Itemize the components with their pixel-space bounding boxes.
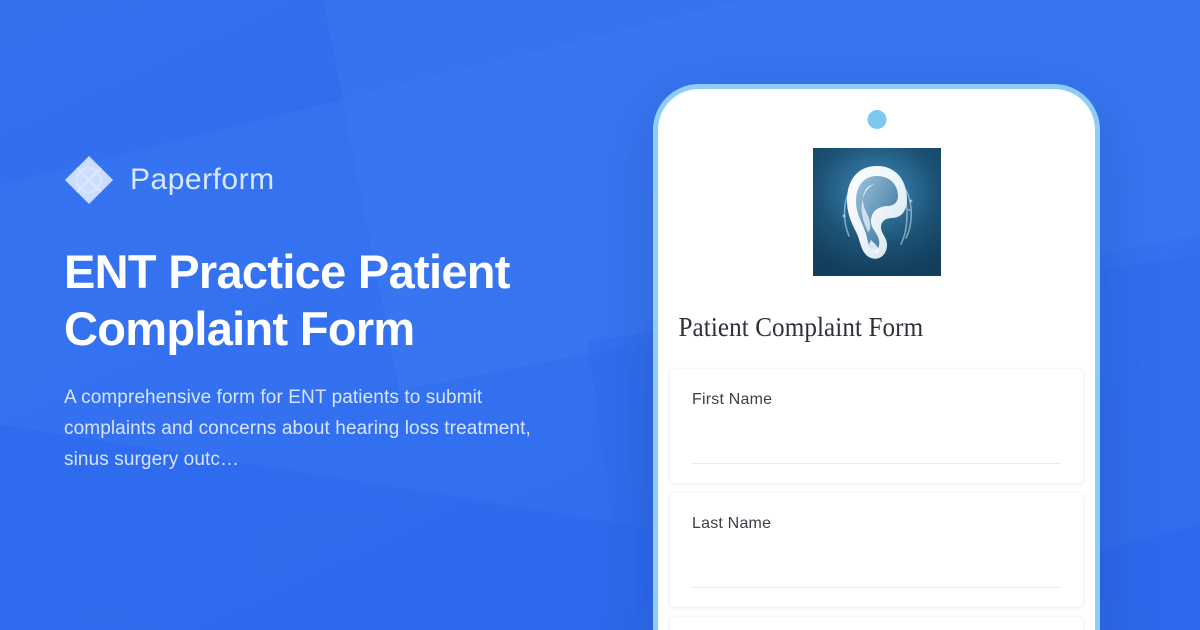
field-label: First Name [692,391,1061,409]
form-field-date-of-birth[interactable]: Date of Birth [670,617,1083,630]
field-underline [692,463,1061,464]
form-field-first-name[interactable]: First Name [670,369,1083,483]
form-field-list: First Name Last Name Date of Birth [658,369,1095,630]
form-title: Patient Complaint Form [658,312,1064,343]
phone-mockup: Patient Complaint Form First Name Last N… [653,84,1100,630]
hero-text-column: Paperform ENT Practice Patient Complaint… [64,0,624,630]
field-underline [692,587,1061,588]
phone-screen: Patient Complaint Form First Name Last N… [658,89,1095,630]
form-cover-image-wrap [658,148,1095,276]
form-field-last-name[interactable]: Last Name [670,493,1083,607]
promo-banner: Paperform ENT Practice Patient Complaint… [0,0,1200,630]
brand-lockup: Paperform [64,155,624,205]
paperform-star-logo-icon [64,155,114,205]
brand-name: Paperform [130,165,275,195]
field-label: Last Name [692,515,1061,533]
page-description: A comprehensive form for ENT patients to… [64,383,564,475]
ear-illustration-icon [813,148,941,276]
page-title: ENT Practice Patient Complaint Form [64,243,584,358]
